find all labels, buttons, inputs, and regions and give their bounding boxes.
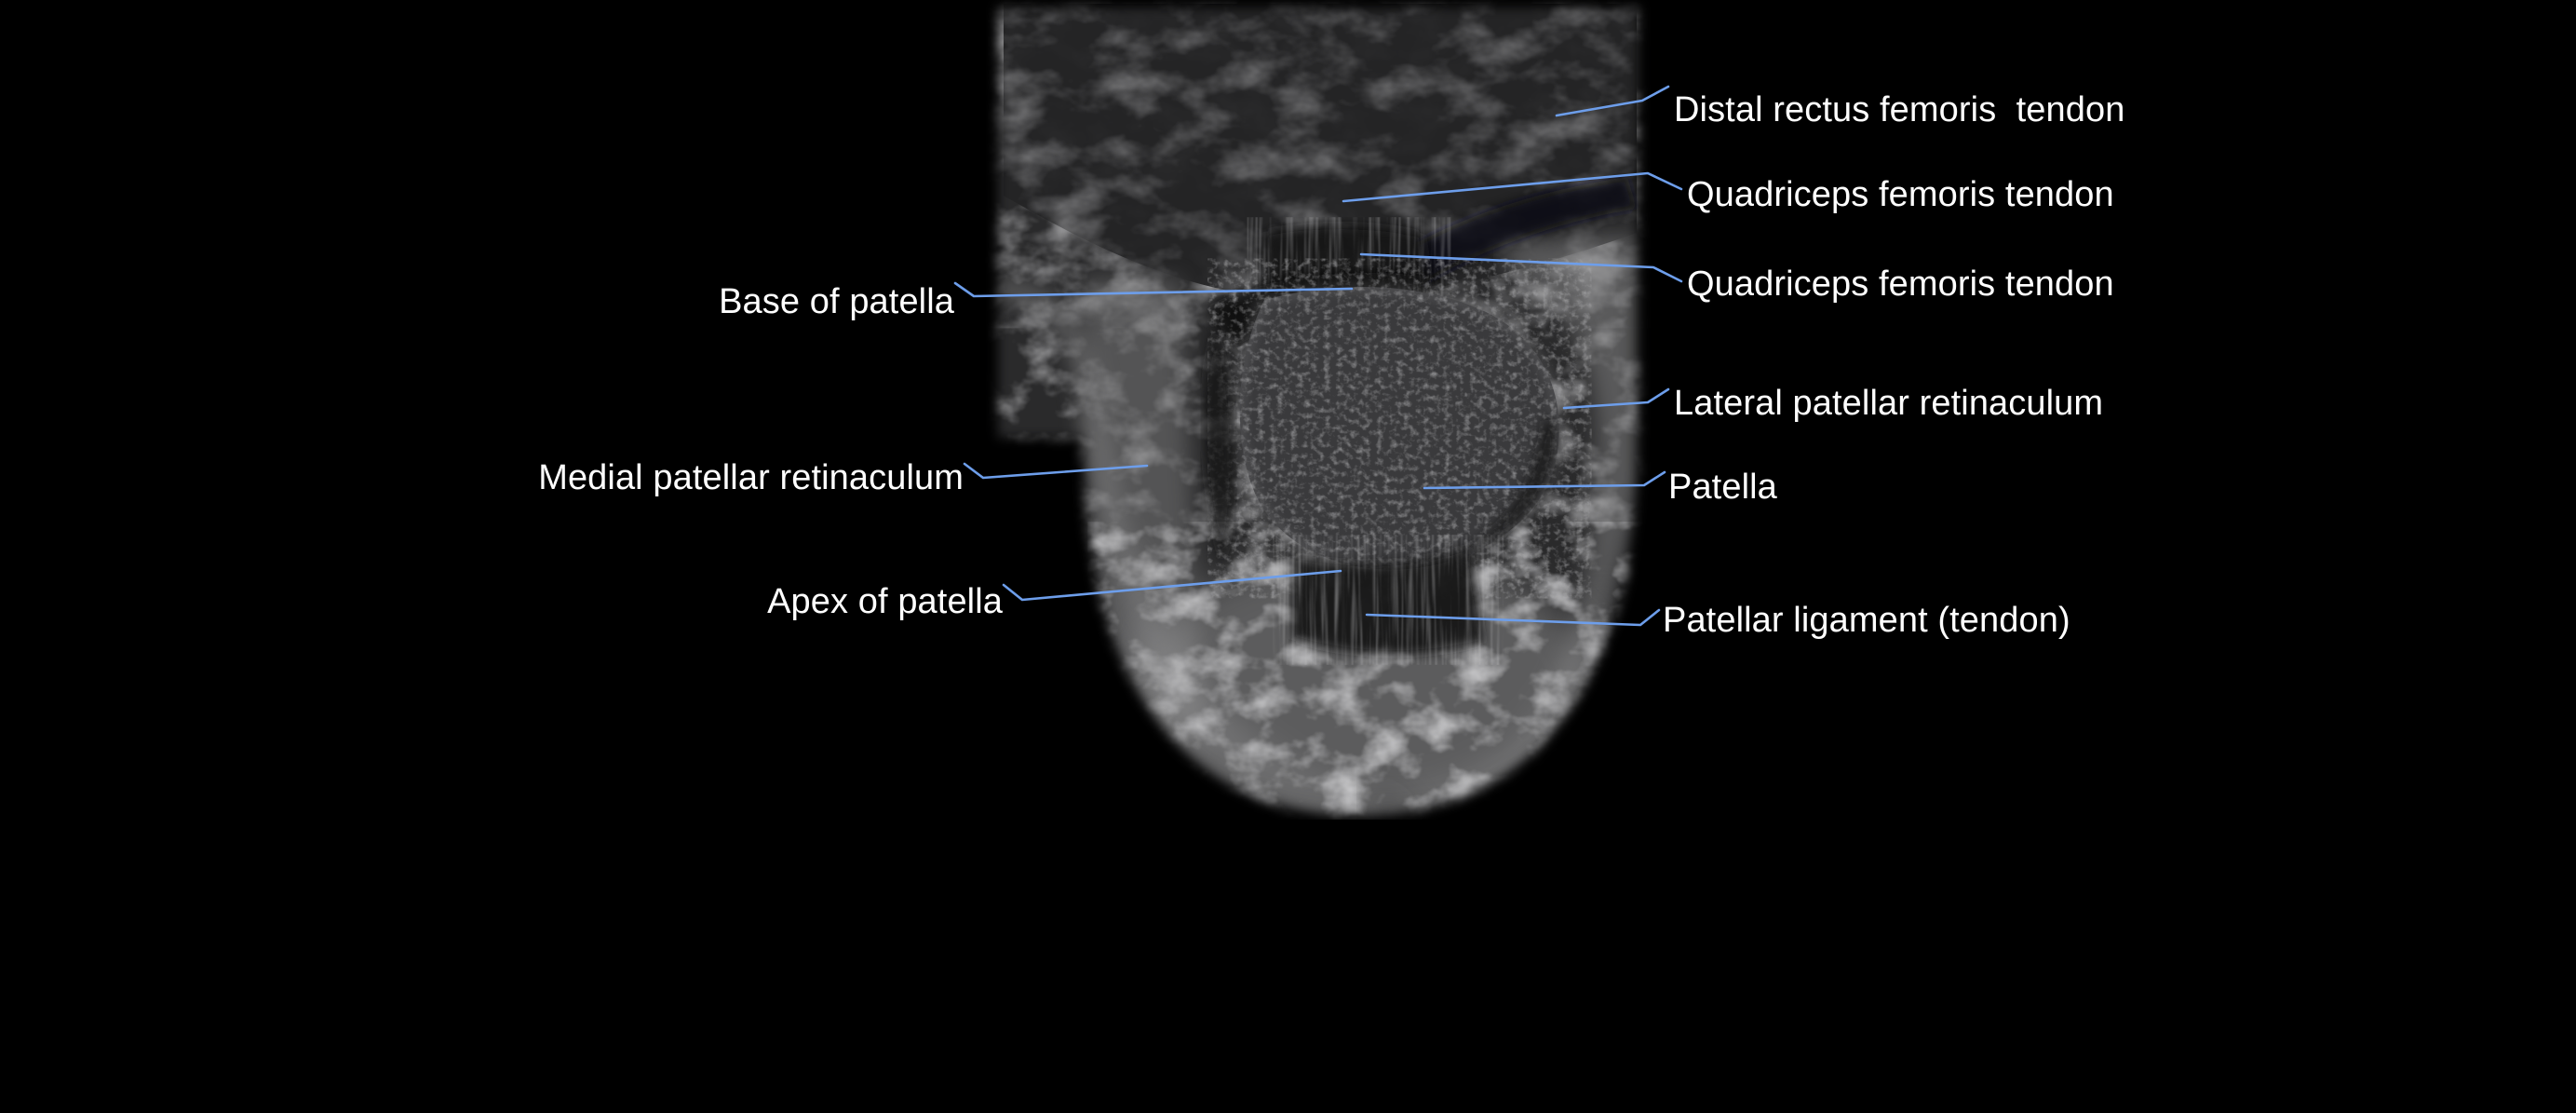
annotation-label-apex-of-patella: Apex of patella	[0, 584, 1003, 619]
annotation-label-distal-rectus-femoris-tendon: Distal rectus femoris tendon	[1674, 92, 2124, 128]
annotation-label-quadriceps-femoris-tendon-superior: Quadriceps femoris tendon	[1687, 177, 2114, 212]
annotation-label-base-of-patella: Base of patella	[0, 284, 954, 319]
annotation-label-lateral-patellar-retinaculum: Lateral patellar retinaculum	[1674, 386, 2103, 421]
mri-scan-image	[985, 0, 1652, 820]
annotation-label-patella: Patella	[1668, 469, 1777, 505]
figure-canvas: Distal rectus femoris tendon Quadriceps …	[0, 0, 2576, 1113]
annotation-label-medial-patellar-retinaculum: Medial patellar retinaculum	[0, 460, 964, 495]
annotation-label-patellar-ligament-tendon: Patellar ligament (tendon)	[1663, 603, 2070, 638]
annotation-label-quadriceps-femoris-tendon-deep: Quadriceps femoris tendon	[1687, 266, 2114, 302]
